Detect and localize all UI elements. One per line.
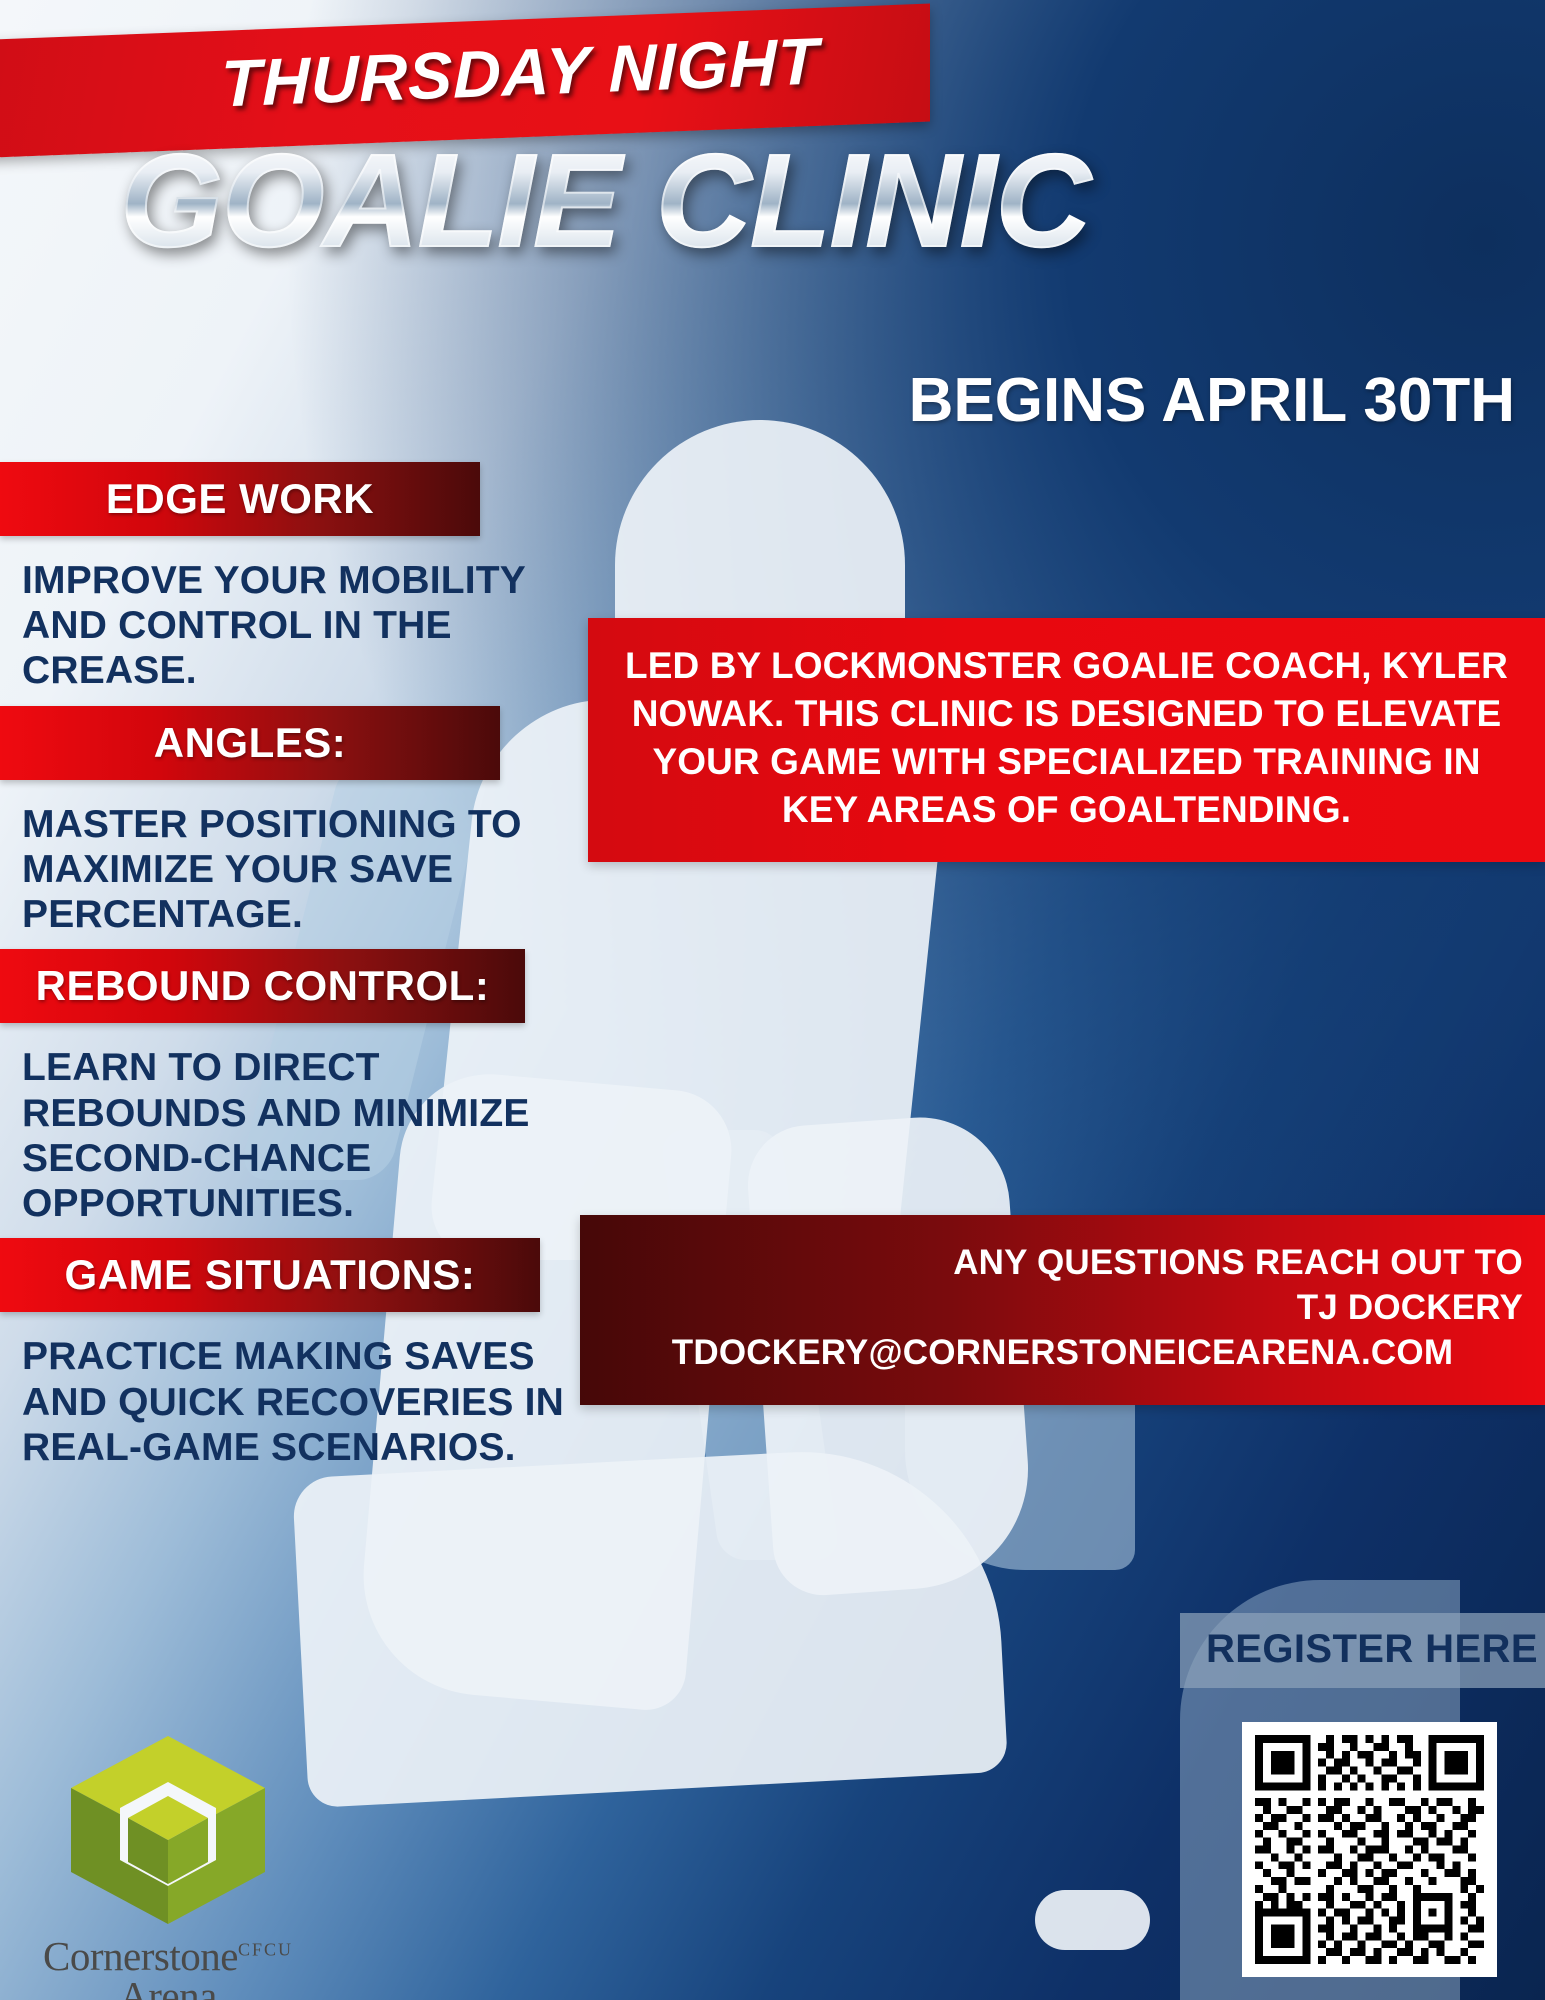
- topic-heading-label: REBOUND CONTROL:: [36, 962, 490, 1010]
- topic-heading-label: ANGLES:: [154, 719, 347, 767]
- clinic-description-box: LED BY LOCKMONSTER GOALIE COACH, KYLER N…: [588, 618, 1545, 862]
- clinic-description-text: LED BY LOCKMONSTER GOALIE COACH, KYLER N…: [614, 642, 1519, 834]
- goalie-silhouette-stick: [292, 1442, 1008, 1808]
- topic-section-rebound-control: REBOUND CONTROL: LEARN TO DIRECT REBOUND…: [0, 949, 620, 1232]
- topic-body-text: IMPROVE YOUR MOBILITY AND CONTROL IN THE…: [0, 536, 612, 700]
- logo-cfcu: CFCU: [238, 1939, 293, 1959]
- contact-name: TJ DOCKERY: [602, 1286, 1523, 1331]
- clinic-topics-list: EDGE WORK IMPROVE YOUR MOBILITY AND CONT…: [0, 462, 620, 1482]
- topic-body-text: MASTER POSITIONING TO MAXIMIZE YOUR SAVE…: [0, 780, 612, 944]
- cornerstone-arena-logo: CornerstoneCFCU Arena: [8, 1730, 328, 2000]
- qr-code-icon[interactable]: [1255, 1735, 1484, 1964]
- register-here-button[interactable]: REGISTER HERE: [1180, 1613, 1545, 1688]
- page-title: GOALIE CLINIC: [0, 135, 1220, 267]
- contact-line-1: ANY QUESTIONS REACH OUT TO: [602, 1241, 1523, 1286]
- topic-heading-bar: EDGE WORK: [0, 462, 480, 536]
- header-subtitle: BEGINS APRIL 30TH: [909, 365, 1515, 436]
- topic-section-angles: ANGLES: MASTER POSITIONING TO MAXIMIZE Y…: [0, 706, 620, 944]
- topic-heading-label: EDGE WORK: [106, 475, 374, 523]
- contact-email[interactable]: TDOCKERY@CORNERSTONEICEARENA.COM: [602, 1331, 1523, 1376]
- topic-body-text: PRACTICE MAKING SAVES AND QUICK RECOVERI…: [0, 1312, 612, 1476]
- poster-canvas: THURSDAY NIGHT GOALIE CLINIC BEGINS APRI…: [0, 0, 1545, 2000]
- topic-heading-label: GAME SITUATIONS:: [65, 1251, 476, 1299]
- topic-body-text: LEARN TO DIRECT REBOUNDS AND MINIMIZE SE…: [0, 1023, 612, 1232]
- topic-heading-bar: REBOUND CONTROL:: [0, 949, 525, 1023]
- topic-section-edge-work: EDGE WORK IMPROVE YOUR MOBILITY AND CONT…: [0, 462, 620, 700]
- hexagon-cube-icon: [63, 1730, 273, 1930]
- puck-shape: [1035, 1890, 1150, 1950]
- topic-heading-bar: GAME SITUATIONS:: [0, 1238, 540, 1312]
- topic-heading-bar: ANGLES:: [0, 706, 500, 780]
- logo-wordmark: CornerstoneCFCU Arena: [8, 1932, 328, 2000]
- topic-section-game-situations: GAME SITUATIONS: PRACTICE MAKING SAVES A…: [0, 1238, 620, 1476]
- contact-box: ANY QUESTIONS REACH OUT TO TJ DOCKERY TD…: [580, 1215, 1545, 1405]
- qr-code-container[interactable]: [1242, 1722, 1497, 1977]
